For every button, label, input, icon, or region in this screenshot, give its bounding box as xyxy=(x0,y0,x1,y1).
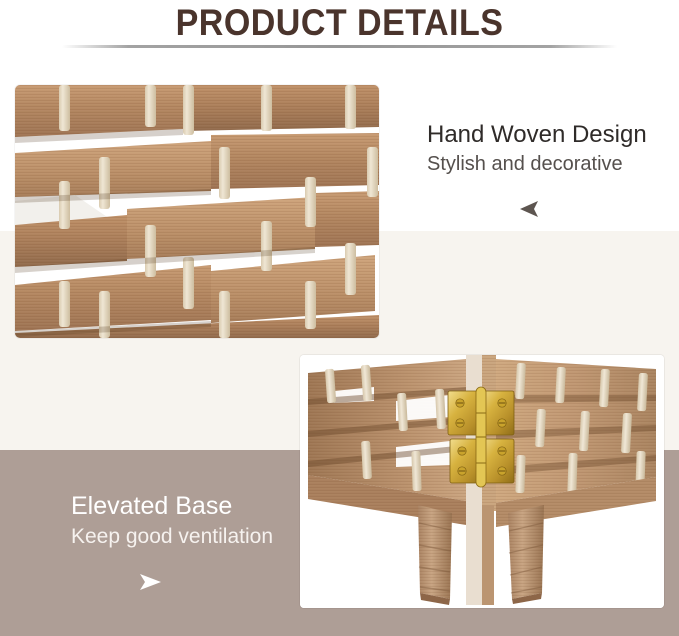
section-subheading-elevated-base: Keep good ventilation xyxy=(71,522,273,552)
arrow-left-icon xyxy=(518,200,544,223)
elevated-legs xyxy=(418,505,544,605)
arrow-right-icon xyxy=(137,572,165,597)
page-title: PRODUCT DETAILS xyxy=(27,0,652,45)
hinge-and-legs-illustration xyxy=(300,355,664,608)
section-heading-hand-woven: Hand Woven Design xyxy=(427,120,647,150)
woven-panel-illustration xyxy=(15,85,379,338)
product-details-page: PRODUCT DETAILS xyxy=(0,0,679,636)
photo-hand-woven-panel xyxy=(15,85,379,338)
section-elevated-base-text: Elevated Base Keep good ventilation xyxy=(71,490,273,552)
photo-elevated-base-hinge xyxy=(300,355,664,608)
section-heading-elevated-base: Elevated Base xyxy=(71,490,273,522)
header-divider xyxy=(62,45,617,48)
section-hand-woven-text: Hand Woven Design Stylish and decorative xyxy=(427,120,647,178)
section-subheading-hand-woven: Stylish and decorative xyxy=(427,150,647,178)
